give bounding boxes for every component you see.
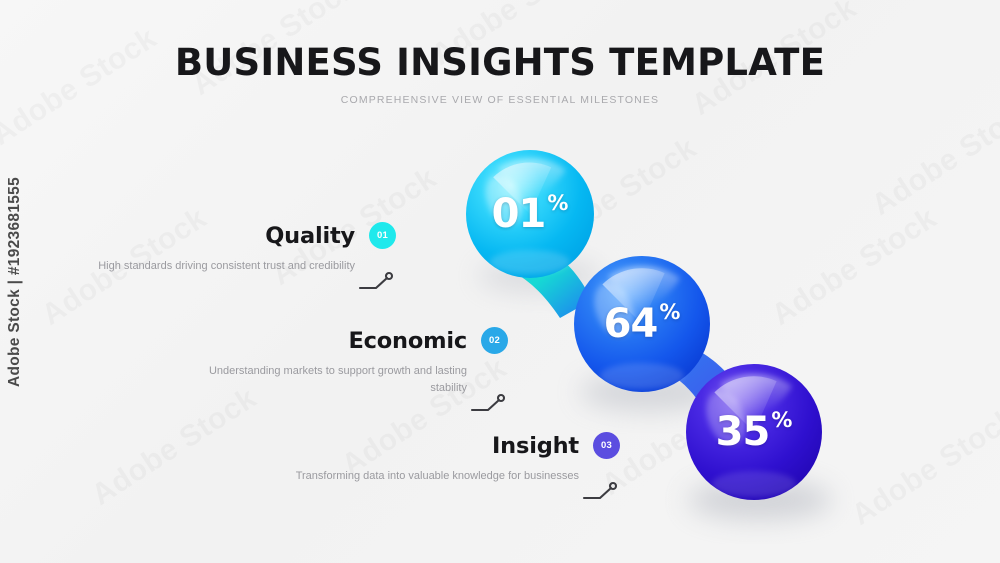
info-header-insight: Insight 03: [290, 432, 620, 459]
info-description-economic: Understanding markets to support growth …: [178, 363, 508, 397]
pointer-icon-01: [358, 271, 394, 293]
info-block-economic[interactable]: Economic 02 Understanding markets to sup…: [178, 327, 508, 397]
infographic-canvas: Adobe Stock Adobe Stock Adobe Stock Adob…: [0, 0, 1000, 563]
connector-1-2: [494, 236, 592, 318]
info-description-insight: Transforming data into valuable knowledg…: [290, 468, 620, 485]
page-subtitle: COMPREHENSIVE VIEW OF ESSENTIAL MILESTON…: [0, 94, 1000, 106]
header: BUSINESS INSIGHTS TEMPLATE COMPREHENSIVE…: [0, 44, 1000, 106]
pointer-icon-03: [582, 481, 618, 503]
info-description-quality: High standards driving consistent trust …: [66, 258, 396, 275]
sphere-shadow: [688, 480, 832, 520]
sphere-02-value: 64%: [574, 256, 710, 392]
info-header-economic: Economic 02: [178, 327, 508, 354]
sphere-shadow: [580, 373, 720, 411]
sphere-shadow: [478, 259, 602, 293]
info-title-insight: Insight: [492, 433, 579, 459]
info-title-economic: Economic: [348, 328, 467, 354]
sphere-03-number: 35: [716, 409, 770, 455]
badge-03[interactable]: 03: [593, 432, 620, 459]
connector-2-3: [658, 346, 748, 424]
background-watermark: Adobe Stock: [86, 381, 263, 512]
sphere-03-unit: %: [771, 408, 792, 432]
sphere-02-unit: %: [659, 300, 680, 324]
info-block-quality[interactable]: Quality 01 High standards driving consis…: [66, 222, 396, 275]
info-title-quality: Quality: [265, 223, 355, 249]
sphere-02: [574, 248, 710, 392]
sphere-02-number: 64: [604, 301, 658, 347]
badge-01[interactable]: 01: [369, 222, 396, 249]
badge-02[interactable]: 02: [481, 327, 508, 354]
background-watermark: Adobe Stock: [766, 201, 943, 332]
sphere-03: [686, 356, 822, 500]
sphere-01: [466, 143, 594, 278]
background-watermark: Adobe Stock: [526, 131, 703, 262]
info-block-insight[interactable]: Insight 03 Transforming data into valuab…: [290, 432, 620, 485]
sphere-01-value: 01%: [466, 150, 594, 278]
sphere-03-value: 35%: [686, 364, 822, 500]
background-watermark: Adobe Stock: [596, 371, 773, 502]
sphere-01-number: 01: [492, 191, 546, 237]
sphere-01-unit: %: [547, 191, 568, 215]
background-watermark: Adobe Stock: [866, 91, 1000, 222]
info-header-quality: Quality 01: [66, 222, 396, 249]
pointer-icon-02: [470, 393, 506, 415]
page-title: BUSINESS INSIGHTS TEMPLATE: [0, 44, 1000, 83]
side-watermark: Adobe Stock | #1923681555: [6, 176, 24, 386]
background-watermark: Adobe Stock: [846, 401, 1000, 532]
